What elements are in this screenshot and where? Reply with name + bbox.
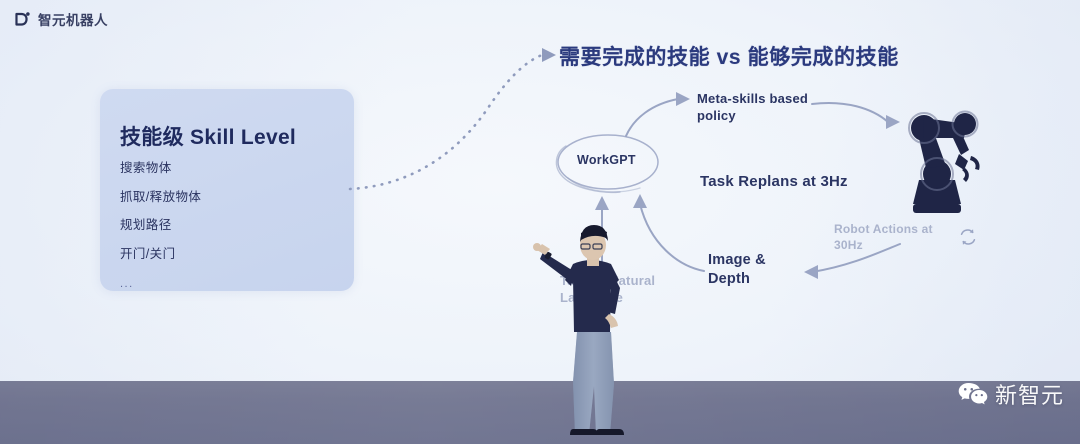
label-task-replans: Task Replans at 3Hz — [700, 173, 848, 190]
label-meta-skills-policy: Meta-skills basedpolicy — [697, 90, 808, 124]
refresh-loop-icon — [957, 226, 979, 248]
wechat-icon — [958, 381, 988, 407]
zhiyuan-logo-icon — [14, 11, 31, 28]
label-image-depth: Image &Depth — [708, 251, 766, 289]
presenter-person — [533, 224, 645, 444]
robot-arm-icon — [893, 104, 985, 220]
label-workgpt: WorkGPT — [577, 153, 636, 167]
brand-name: 智元机器人 — [38, 9, 108, 29]
page-title: 需要完成的技能 vs 能够完成的技能 — [559, 41, 899, 71]
slide-screenshot: 智元机器人 技能级 Skill Level 搜索物体 抓取/释放物体 规划路径 … — [0, 0, 1080, 444]
brand-logo: 智元机器人 — [14, 9, 108, 29]
watermark-text: 新智元 — [995, 378, 1064, 410]
dotted-curve-arrow-icon — [346, 36, 566, 206]
watermark: 新智元 — [958, 378, 1064, 410]
label-robot-actions: Robot Actions at30Hz — [834, 221, 933, 253]
